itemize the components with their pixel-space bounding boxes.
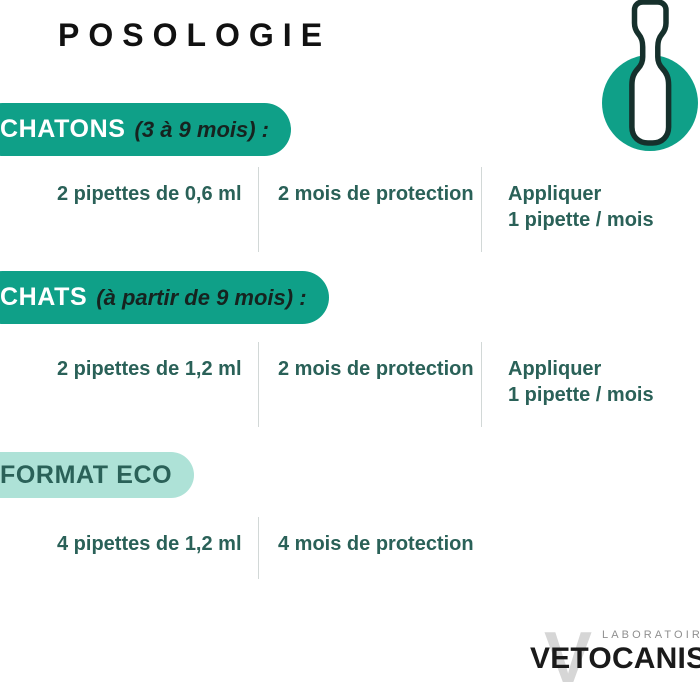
column-divider — [481, 342, 482, 427]
logo-tagline: LABORATOIRE — [602, 629, 700, 641]
section-pill-eco: FORMAT ECO — [0, 452, 194, 498]
posologie-infographic: POSOLOGIE CHATONS (3 à 9 mois) : 2 pipet… — [0, 0, 700, 700]
column-divider — [258, 167, 259, 252]
brand-logo: V LABORATOIRE VETOCANIS — [528, 620, 696, 696]
section-pill-kitten: CHATONS (3 à 9 mois) : — [0, 103, 291, 156]
data-row-eco: 4 pipettes de 1,2 ml 4 mois de protectio… — [0, 515, 700, 581]
logo-brand-name: VETOCANIS — [530, 642, 700, 676]
cell-duration: 2 mois de protection — [278, 356, 474, 382]
data-row-kitten: 2 pipettes de 0,6 ml 2 mois de protectio… — [0, 165, 700, 253]
cell-instruction: Appliquer 1 pipette / mois — [508, 181, 654, 234]
data-row-cat: 2 pipettes de 1,2 ml 2 mois de protectio… — [0, 340, 700, 428]
cell-dose: 4 pipettes de 1,2 ml — [57, 531, 242, 557]
section-pill-cat: CHATS (à partir de 9 mois) : — [0, 271, 329, 324]
page-title: POSOLOGIE — [58, 19, 331, 51]
cell-duration: 2 mois de protection — [278, 181, 474, 207]
column-divider — [258, 517, 259, 579]
column-divider — [481, 167, 482, 252]
section-pill-sublabel: (à partir de 9 mois) : — [96, 285, 306, 311]
section-pill-label: CHATONS — [0, 115, 126, 144]
cell-instruction: Appliquer 1 pipette / mois — [508, 356, 654, 409]
cell-duration: 4 mois de protection — [278, 531, 474, 557]
column-divider — [258, 342, 259, 427]
section-pill-label: CHATS — [0, 283, 87, 312]
section-pill-sublabel: (3 à 9 mois) : — [135, 117, 269, 143]
bottle-in-circle-icon — [596, 0, 700, 156]
section-pill-label: FORMAT ECO — [0, 461, 172, 490]
cell-dose: 2 pipettes de 0,6 ml — [57, 181, 242, 207]
cell-dose: 2 pipettes de 1,2 ml — [57, 356, 242, 382]
